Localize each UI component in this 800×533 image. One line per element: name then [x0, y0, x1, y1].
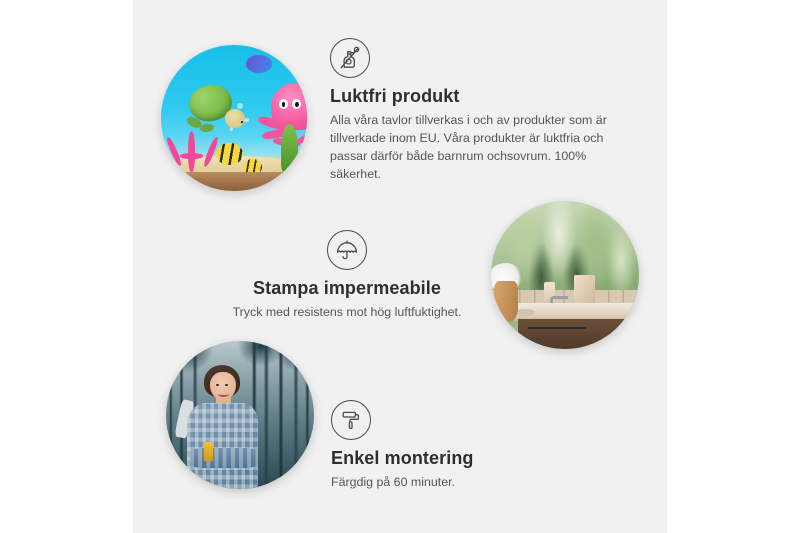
yellow-tool — [204, 442, 213, 461]
woman-with-paint-roller-forest-wallpaper-image — [166, 341, 314, 489]
feature-block-stampa-impermeabile: Stampa impermeabile Tryck med resistens … — [222, 230, 472, 322]
forest-canopy — [166, 341, 314, 403]
bathroom-botanical-wallpaper-image — [491, 201, 639, 349]
underwater-kids-mural-image — [161, 45, 307, 191]
yellow-fish-icon — [216, 143, 242, 165]
feature-description: Alla våra tavlor tillverkas i och av pro… — [330, 112, 630, 184]
vase — [494, 281, 518, 322]
wooden-vanity-cabinet — [518, 319, 639, 349]
blue-fish-icon — [246, 55, 272, 73]
sea-turtle-icon — [184, 83, 242, 130]
crossed-arms — [190, 448, 258, 469]
feature-block-luktfri-produkt: Luktfri produkt Alla våra tavlor tillver… — [330, 38, 630, 184]
feature-title: Luktfri produkt — [330, 86, 630, 107]
feature-description: Färgdig på 60 minuter. — [331, 474, 581, 492]
feature-description: Tryck med resistens mot hög luftfuktighe… — [222, 304, 472, 322]
page-root: Luktfri produkt Alla våra tavlor tillver… — [0, 0, 800, 533]
sea-floor — [161, 172, 307, 191]
feature-title: Stampa impermeabile — [222, 278, 472, 299]
face — [210, 372, 235, 400]
no-odour-spray-bottle-icon — [330, 38, 370, 78]
paint-roller-icon — [331, 400, 371, 440]
umbrella-icon — [327, 230, 367, 270]
coral-icon — [167, 124, 217, 174]
feature-title: Enkel montering — [331, 448, 581, 469]
seaweed-icon — [281, 124, 299, 174]
plaid-shirt — [187, 403, 258, 489]
feature-block-enkel-montering: Enkel montering Färgdig på 60 minuter. — [331, 400, 581, 492]
